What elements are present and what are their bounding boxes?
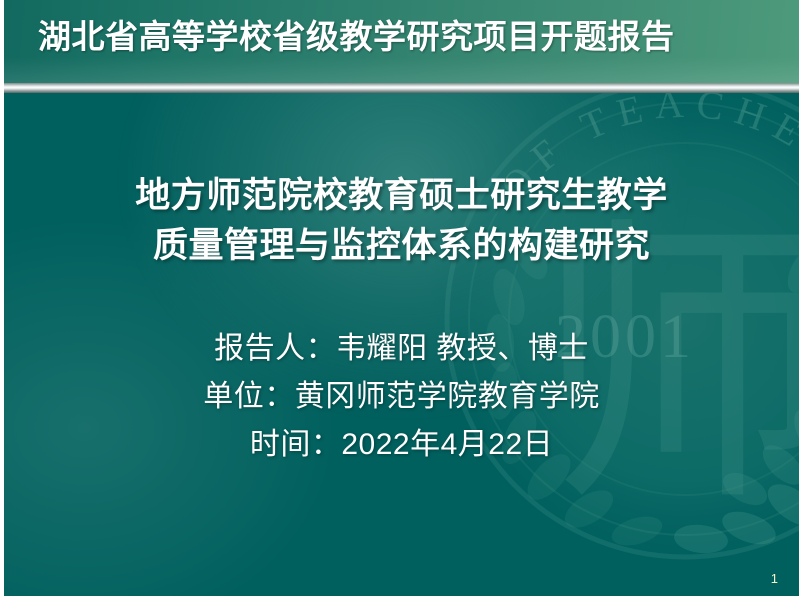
presentation-slide: 湖北省高等学校省级教学研究项目开题报告 [0,0,799,601]
slide-frame-left-edge [0,0,4,601]
slide-frame-bottom-edge [0,596,799,601]
main-title-line-1: 地方师范院校教育硕士研究生教学 [4,171,799,221]
main-title-line-2: 质量管理与监控体系的构建研究 [4,221,799,271]
slide-main-title: 地方师范院校教育硕士研究生教学 质量管理与监控体系的构建研究 [4,171,799,271]
slide-canvas: 湖北省高等学校省级教学研究项目开题报告 [4,0,799,596]
date-line: 时间：2022年4月22日 [4,421,799,469]
slide-header-band: 湖北省高等学校省级教学研究项目开题报告 [4,0,799,83]
slide-body: OF TEACHERS 师 2001 [4,93,799,596]
page-number: 1 [771,572,778,586]
affiliation-line: 单位：黄冈师范学院教育学院 [4,373,799,421]
presenter-info-block: 报告人：韦耀阳 教授、博士 单位：黄冈师范学院教育学院 时间：2022年4月22… [4,325,799,469]
header-divider-bar [4,83,799,93]
presenter-line: 报告人：韦耀阳 教授、博士 [4,325,799,373]
header-title: 湖北省高等学校省级教学研究项目开题报告 [38,14,675,60]
